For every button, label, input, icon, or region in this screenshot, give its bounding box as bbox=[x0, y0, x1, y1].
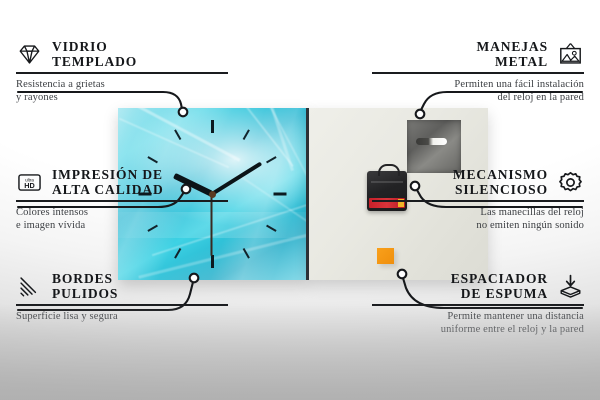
feature-title-line1: IMPRESIÓN DE bbox=[52, 168, 164, 183]
foam-spacer-icon bbox=[557, 273, 584, 300]
feature-desc-line1: Colores intensos bbox=[16, 206, 228, 219]
feature-title-line1: MECANISMO bbox=[453, 168, 548, 183]
diamond-icon bbox=[16, 41, 43, 68]
feature-manejas-metal[interactable]: MANEJAS METAL Permiten una fácil instala… bbox=[372, 40, 584, 104]
feature-title-line1: ESPACIADOR bbox=[451, 272, 548, 287]
feature-desc-line2: e imagen vívida bbox=[16, 219, 228, 232]
feature-bordes-pulidos[interactable]: BORDES PULIDOS Superficie lisa y segura bbox=[16, 272, 228, 323]
feature-title-line2: PULIDOS bbox=[52, 287, 118, 302]
feature-espaciador-espuma[interactable]: ESPACIADOR DE ESPUMA Permite mantener un… bbox=[372, 272, 584, 336]
feature-title-line2: METAL bbox=[476, 55, 548, 70]
polished-edges-icon bbox=[16, 273, 43, 300]
feature-title-line2: TEMPLADO bbox=[52, 55, 137, 70]
feature-desc-line2: uniforme entre el reloj y la pared bbox=[372, 323, 584, 336]
feature-desc-line1: Superficie lisa y segura bbox=[16, 310, 228, 323]
feature-title-line1: BORDES bbox=[52, 272, 118, 287]
svg-text:HD: HD bbox=[24, 181, 34, 190]
feature-title-line1: VIDRIO bbox=[52, 40, 137, 55]
feature-vidrio-templado[interactable]: VIDRIO TEMPLADO Resistencia a grietas y … bbox=[16, 40, 228, 104]
feature-desc-line2: del reloj en la pared bbox=[372, 91, 584, 104]
feature-title-line2: SILENCIOSO bbox=[453, 183, 548, 198]
feature-desc-line2: y rayones bbox=[16, 91, 228, 104]
ultra-hd-icon: ultra HD bbox=[16, 169, 43, 196]
feature-mecanismo-silencioso[interactable]: MECANISMO SILENCIOSO Las manecillas del … bbox=[372, 168, 584, 232]
feature-desc-line1: Permite mantener una distancia bbox=[372, 310, 584, 323]
feature-title-line2: DE ESPUMA bbox=[451, 287, 548, 302]
foam-spacer-part bbox=[377, 248, 394, 264]
feature-title-line2: ALTA CALIDAD bbox=[52, 183, 164, 198]
feature-desc-line1: Las manecillas del reloj bbox=[372, 206, 584, 219]
metal-hanger-part bbox=[407, 120, 461, 173]
feature-desc-line1: Resistencia a grietas bbox=[16, 78, 228, 91]
feature-desc-line1: Permiten una fácil instalación bbox=[372, 78, 584, 91]
infographic-canvas: VIDRIO TEMPLADO Resistencia a grietas y … bbox=[0, 0, 600, 400]
picture-frame-hanger-icon bbox=[557, 41, 584, 68]
feature-title-line1: MANEJAS bbox=[476, 40, 548, 55]
feature-impresion-alta-calidad[interactable]: ultra HD IMPRESIÓN DE ALTA CALIDAD Color… bbox=[16, 168, 228, 232]
gear-icon bbox=[557, 169, 584, 196]
feature-desc-line2: no emiten ningún sonido bbox=[372, 219, 584, 232]
